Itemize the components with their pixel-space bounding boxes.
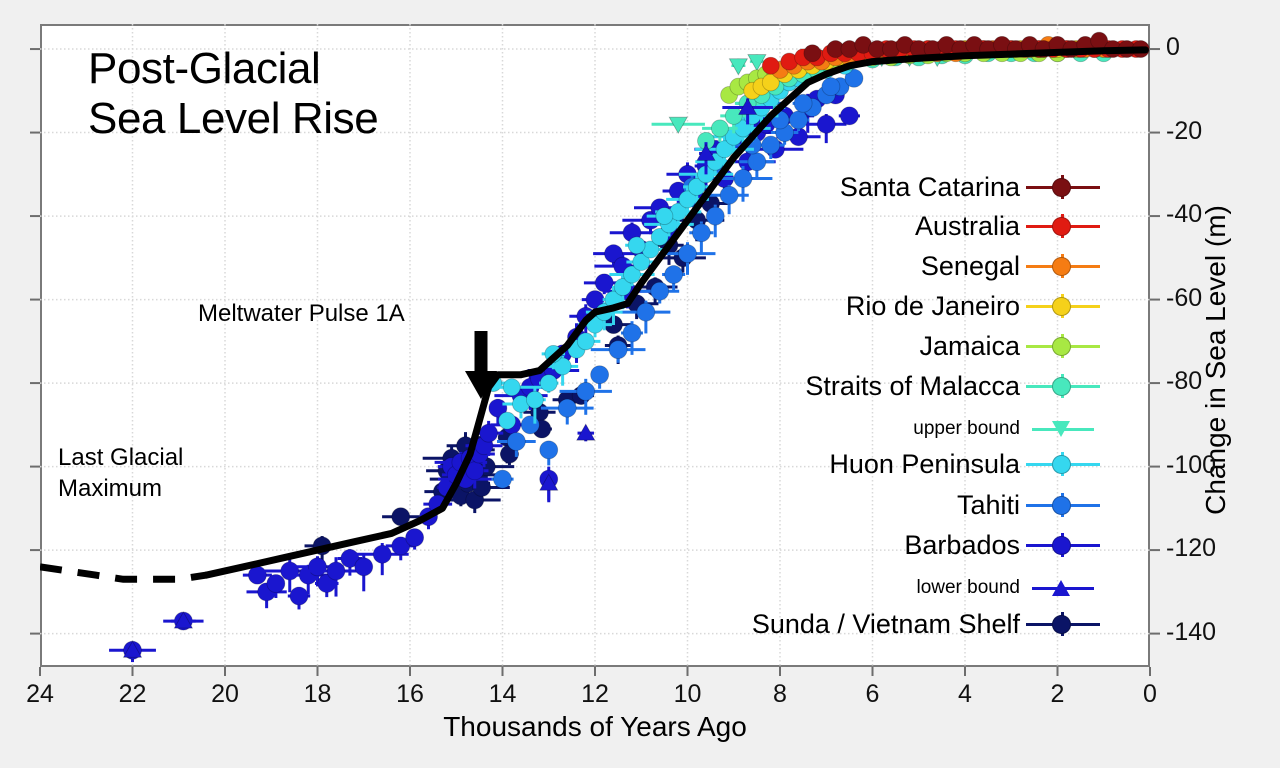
x-tick-0: 0 (1120, 680, 1180, 709)
legend-marker-circle-icon (1026, 333, 1100, 359)
x-tick-6: 6 (843, 680, 903, 709)
legend-label: Rio de Janeiro (846, 291, 1026, 322)
legend-label: Santa Catarina (840, 172, 1026, 203)
x-tick-16: 16 (380, 680, 440, 709)
legend-marker-circle-icon (1026, 532, 1100, 558)
page-title: Post-GlacialSea Level Rise (88, 44, 378, 144)
legend-marker-circle-icon (1026, 611, 1100, 637)
y-tick-neg120: -120 (1166, 534, 1216, 563)
x-tick-22: 22 (103, 680, 163, 709)
legend-marker-circle-icon (1026, 293, 1100, 319)
legend-item-australia[interactable]: Australia (915, 211, 1100, 241)
x-tick-2: 2 (1028, 680, 1088, 709)
y-tick-0: 0 (1166, 33, 1180, 62)
legend-label: Barbados (904, 530, 1026, 561)
y-tick-neg20: -20 (1166, 117, 1202, 146)
y-tick-neg60: -60 (1166, 284, 1202, 313)
legend-label: Senegal (921, 251, 1026, 282)
legend-item-barbados[interactable]: Barbados (904, 530, 1100, 560)
legend-item-jamaica[interactable]: Jamaica (919, 331, 1100, 361)
legend-item-tahiti[interactable]: Tahiti (957, 490, 1100, 520)
legend-item-sunda-vietnam-shelf[interactable]: Sunda / Vietnam Shelf (752, 609, 1100, 639)
y-tick-neg80: -80 (1166, 367, 1202, 396)
y-tick-neg140: -140 (1166, 618, 1216, 647)
legend-marker-circle-icon (1026, 253, 1100, 279)
legend-marker-circle-icon (1026, 451, 1100, 477)
legend-marker-circle-icon (1026, 213, 1100, 239)
x-tick-18: 18 (288, 680, 348, 709)
legend-label: Sunda / Vietnam Shelf (752, 609, 1026, 640)
x-tick-20: 20 (195, 680, 255, 709)
title-line-1: Post-Glacial (88, 44, 320, 93)
legend-label: Tahiti (957, 490, 1026, 521)
legend-item-rio-de-janeiro[interactable]: Rio de Janeiro (846, 291, 1100, 321)
legend-item-santa-catarina[interactable]: Santa Catarina (840, 172, 1100, 202)
annotation-meltwater-pulse: Meltwater Pulse 1A (198, 300, 405, 328)
x-tick-24: 24 (10, 680, 70, 709)
x-tick-10: 10 (658, 680, 718, 709)
y-tick-neg40: -40 (1166, 200, 1202, 229)
annotation-last-glacial-maximum: Last GlacialMaximum (58, 442, 183, 504)
title-line-2: Sea Level Rise (88, 94, 378, 143)
legend-label: Jamaica (919, 331, 1026, 362)
x-axis-title: Thousands of Years Ago (0, 711, 1190, 743)
legend-item-senegal[interactable]: Senegal (921, 251, 1100, 281)
legend-label: Straits of Malacca (805, 371, 1026, 402)
legend-marker-circle-icon (1026, 373, 1100, 399)
legend-label: upper bound (913, 418, 1026, 440)
legend-item-straits-of-malacca[interactable]: Straits of Malacca (805, 371, 1100, 401)
fit-curve-dashed (40, 567, 207, 580)
legend-marker-triangle-down-icon (1026, 416, 1100, 442)
legend-item-upper-bound[interactable]: upper bound (913, 414, 1100, 444)
x-tick-14: 14 (473, 680, 533, 709)
x-tick-8: 8 (750, 680, 810, 709)
legend-item-huon-peninsula[interactable]: Huon Peninsula (829, 449, 1100, 479)
lgm-line-2: Maximum (58, 475, 162, 502)
legend-marker-circle-icon (1026, 174, 1100, 200)
x-tick-12: 12 (565, 680, 625, 709)
legend-label: Huon Peninsula (829, 449, 1026, 480)
legend-item-lower-bound[interactable]: lower bound (916, 573, 1100, 603)
y-tick-neg100: -100 (1166, 451, 1216, 480)
legend-marker-circle-icon (1026, 492, 1100, 518)
legend-label: lower bound (916, 577, 1026, 599)
legend-label: Australia (915, 211, 1026, 242)
x-tick-4: 4 (935, 680, 995, 709)
legend-marker-triangle-up-icon (1026, 575, 1100, 601)
chart-figure: Post-GlacialSea Level Rise Meltwater Pul… (0, 0, 1280, 768)
lgm-line-1: Last Glacial (58, 444, 183, 471)
